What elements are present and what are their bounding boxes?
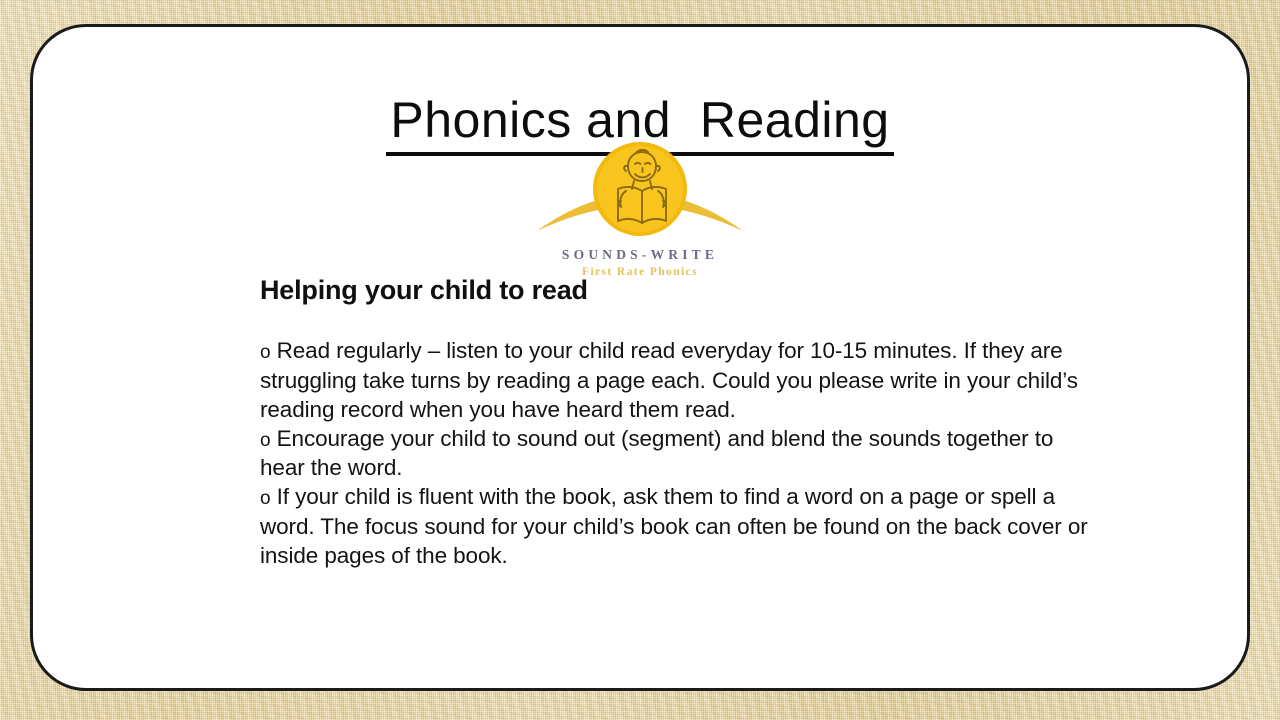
slide-root: Phonics and Reading — [0, 0, 1280, 720]
bullet-marker-icon: o — [260, 342, 270, 363]
sounds-write-logo: SOUNDS-WRITE First Rate Phonics — [33, 139, 1247, 279]
bullet-marker-icon: o — [260, 430, 270, 451]
bullet-text: Read regularly – listen to your child re… — [260, 338, 1078, 422]
sounds-write-logo-mark — [535, 139, 745, 251]
bullet-paragraph: o Encourage your child to sound out (seg… — [260, 424, 1090, 483]
bullet-paragraph: o If your child is fluent with the book,… — [260, 482, 1090, 570]
bullet-marker-icon: o — [260, 488, 270, 509]
bullet-paragraph: o Read regularly – listen to your child … — [260, 336, 1090, 424]
bullet-text: If your child is fluent with the book, a… — [260, 484, 1088, 568]
body-block: Helping your child to read o Read regula… — [260, 274, 1090, 570]
bullet-text: Encourage your child to sound out (segme… — [260, 426, 1053, 481]
content-card: Phonics and Reading — [30, 24, 1250, 691]
section-heading: Helping your child to read — [260, 274, 1090, 306]
